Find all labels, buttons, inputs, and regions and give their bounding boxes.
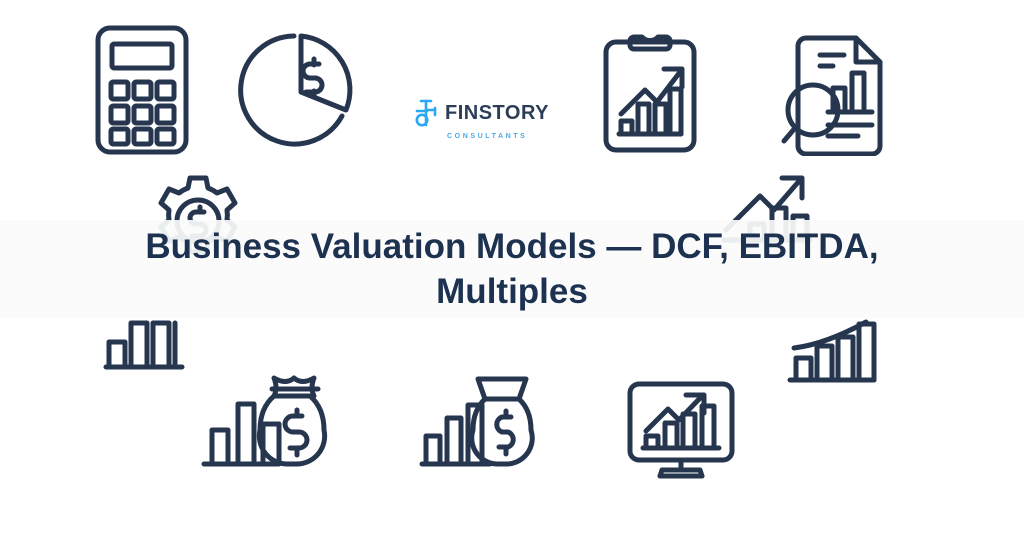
clipboard-bar-chart-icon: [600, 28, 700, 156]
ascending-bars-curve-icon: [786, 318, 882, 390]
title-banner: Business Valuation Models — DCF, EBITDA,…: [0, 220, 1024, 319]
monitor-chart-icon: [624, 378, 738, 482]
pie-chart-dollar-icon: [238, 28, 358, 152]
slide-canvas: Business Valuation Models — DCF, EBITDA,…: [0, 0, 1024, 536]
page-title: Business Valuation Models — DCF, EBITDA,…: [100, 225, 924, 315]
brand-tagline: CONSULTANTS: [447, 133, 527, 140]
finstory-logo-mark-icon: [415, 98, 441, 128]
brand-name: FINSTORY: [445, 103, 549, 123]
money-bag-ascending-bars-icon: [418, 372, 538, 476]
money-bag-bars-icon: [200, 372, 330, 476]
bar-chart-simple-icon: [100, 315, 194, 377]
brand-logo: FINSTORY CONSULTANTS: [415, 98, 545, 150]
calculator-icon: [92, 22, 192, 158]
document-magnifier-icon: [780, 28, 892, 156]
brand-logo-row: FINSTORY: [415, 98, 549, 128]
